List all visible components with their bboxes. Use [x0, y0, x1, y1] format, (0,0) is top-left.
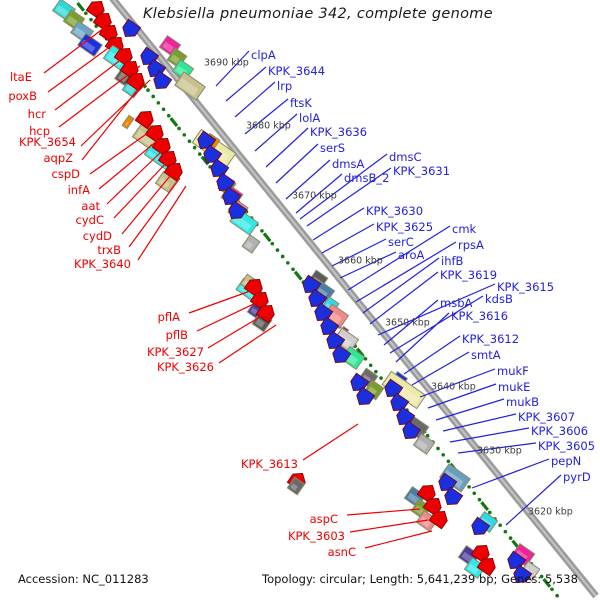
- gene-label-right[interactable]: KPK_3606: [531, 424, 588, 438]
- gene-label-left[interactable]: trxB: [97, 243, 121, 257]
- gene-label-left[interactable]: KPK_3626: [157, 360, 214, 374]
- gene-label-right[interactable]: KPK_3644: [268, 64, 325, 78]
- gene-label-right[interactable]: lolA: [299, 111, 320, 125]
- axis-tick-label: 3650 kbp: [385, 318, 430, 329]
- gene-label-right[interactable]: cmk: [452, 222, 476, 236]
- gene-label-right[interactable]: ihfB: [441, 254, 463, 268]
- gene-label-right[interactable]: KPK_3630: [366, 204, 423, 218]
- gene-label-right[interactable]: KPK_3607: [518, 410, 575, 424]
- gene-label-left[interactable]: poxB: [8, 89, 37, 103]
- topology-text: Topology: circular; Length: 5,641,239 bp…: [262, 572, 578, 586]
- gene-label-left[interactable]: pflB: [166, 328, 188, 342]
- gene-label-left[interactable]: KPK_3627: [147, 345, 204, 359]
- accession-text: Accession: NC_011283: [18, 572, 149, 586]
- gene-label-left[interactable]: cydC: [76, 213, 104, 227]
- axis-tick-label: 3620 kbp: [528, 507, 573, 518]
- axis-tick-label: 3670 kbp: [292, 191, 337, 202]
- gene-label-right[interactable]: pepN: [551, 454, 581, 468]
- gene-label-right[interactable]: kdsB: [485, 292, 513, 306]
- gene-label-right[interactable]: rpsA: [458, 238, 484, 252]
- gene-glyph[interactable]: [242, 235, 260, 253]
- gene-glyph[interactable]: [122, 115, 134, 128]
- gene-label-left[interactable]: aqpZ: [43, 151, 73, 165]
- gene-label-right[interactable]: pyrD: [563, 470, 591, 484]
- axis-tick-label: 3680 kbp: [246, 121, 291, 132]
- gene-label-right[interactable]: lrp: [277, 79, 292, 93]
- gene-label-left[interactable]: KPK_3654: [19, 135, 76, 149]
- gene-label-left[interactable]: cydD: [83, 229, 112, 243]
- gene-label-left[interactable]: pflA: [158, 310, 180, 324]
- gene-label-right[interactable]: dmsA: [332, 157, 364, 171]
- gene-label-right[interactable]: KPK_3625: [376, 220, 433, 234]
- gene-label-right[interactable]: serS: [320, 141, 345, 155]
- gene-label-left[interactable]: KPK_3603: [288, 529, 345, 543]
- gene-label-right[interactable]: mukF: [497, 364, 529, 378]
- gene-label-left[interactable]: aat: [81, 199, 100, 213]
- gene-label-left[interactable]: ltaE: [10, 70, 32, 84]
- gene-label-right[interactable]: dmsC: [389, 150, 422, 164]
- genome-map-viewer: Klebsiella pneumoniae 342, complete geno…: [0, 0, 600, 600]
- axis-tick-label: 3660 kbp: [338, 256, 383, 267]
- gene-label-left[interactable]: infA: [68, 183, 90, 197]
- gene-label-right[interactable]: KPK_3631: [393, 164, 450, 178]
- gene-label-right[interactable]: smtA: [471, 348, 501, 362]
- gene-label-right[interactable]: mukB: [506, 395, 539, 409]
- axis-tick-label: 3690 kbp: [204, 58, 249, 69]
- gene-label-right[interactable]: msbA: [440, 296, 472, 310]
- gene-label-right[interactable]: KPK_3616: [451, 309, 508, 323]
- gene-features: [53, 0, 540, 587]
- gene-label-right[interactable]: KPK_3636: [310, 125, 367, 139]
- gene-label-left[interactable]: cspD: [52, 167, 80, 181]
- genome-backbone: [104, 0, 596, 596]
- gene-label-right[interactable]: dmsB_2: [344, 171, 389, 185]
- gene-label-right[interactable]: serC: [388, 235, 414, 249]
- gene-label-right[interactable]: KPK_3612: [462, 332, 519, 346]
- gene-label-left[interactable]: KPK_3613: [241, 457, 298, 471]
- gene-label-right[interactable]: aroA: [398, 248, 424, 262]
- axis-tick-label: 3640 kbp: [431, 382, 476, 393]
- gene-glyph[interactable]: [119, 19, 140, 41]
- gene-label-right[interactable]: clpA: [251, 48, 276, 62]
- gene-label-left[interactable]: hcr: [28, 107, 46, 121]
- gene-label-left[interactable]: KPK_3640: [74, 257, 131, 271]
- gene-label-right[interactable]: ftsK: [290, 96, 312, 110]
- gene-label-left[interactable]: asnC: [328, 545, 356, 559]
- page-title: Klebsiella pneumoniae 342, complete geno…: [143, 6, 493, 22]
- gene-label-left[interactable]: aspC: [310, 512, 338, 526]
- gene-label-right[interactable]: KPK_3619: [440, 268, 497, 282]
- axis-tick-label: 3630 kbp: [477, 446, 522, 457]
- gene-label-right[interactable]: mukE: [498, 380, 530, 394]
- gene-label-right[interactable]: KPK_3605: [538, 439, 595, 453]
